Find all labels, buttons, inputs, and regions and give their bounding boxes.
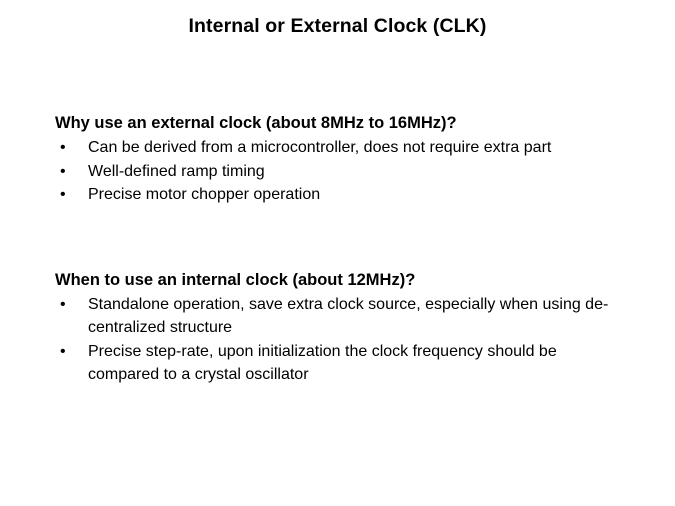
slide-canvas: Internal or External Clock (CLK) Why use…: [0, 0, 675, 506]
bullet-list-external-clock: • Can be derived from a microcontroller,…: [55, 136, 620, 207]
list-item: • Precise step-rate, upon initialization…: [55, 340, 620, 387]
bullet-dot-icon: •: [60, 293, 66, 317]
list-item: • Precise motor chopper operation: [55, 183, 620, 207]
list-item: • Standalone operation, save extra clock…: [55, 293, 620, 340]
section-heading-internal-clock: When to use an internal clock (about 12M…: [55, 269, 620, 292]
slide-body: Why use an external clock (about 8MHz to…: [55, 112, 620, 387]
bullet-dot-icon: •: [60, 183, 66, 207]
page-title: Internal or External Clock (CLK): [0, 15, 675, 38]
section-internal-clock: When to use an internal clock (about 12M…: [55, 269, 620, 387]
bullet-list-internal-clock: • Standalone operation, save extra clock…: [55, 293, 620, 387]
list-item-label: Can be derived from a microcontroller, d…: [88, 136, 620, 160]
list-item-label: Standalone operation, save extra clock s…: [88, 293, 620, 340]
list-item-label: Well-defined ramp timing: [88, 160, 620, 184]
list-item: • Well-defined ramp timing: [55, 160, 620, 184]
bullet-dot-icon: •: [60, 340, 66, 364]
section-external-clock: Why use an external clock (about 8MHz to…: [55, 112, 620, 207]
list-item-label: Precise motor chopper operation: [88, 183, 620, 207]
section-heading-external-clock: Why use an external clock (about 8MHz to…: [55, 112, 620, 135]
list-item-label: Precise step-rate, upon initialization t…: [88, 340, 620, 387]
bullet-dot-icon: •: [60, 136, 66, 160]
list-item: • Can be derived from a microcontroller,…: [55, 136, 620, 160]
bullet-dot-icon: •: [60, 160, 66, 184]
